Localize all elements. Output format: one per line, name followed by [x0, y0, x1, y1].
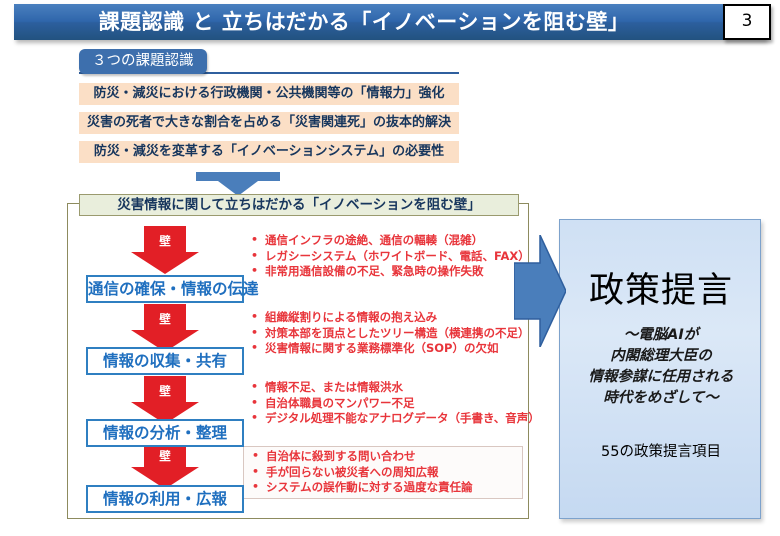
bullet-group-3: 情報不足、または情報洪水 自治体職員のマンパワー不足 デジタル処理不能なアナログ…: [243, 378, 523, 429]
policy-proposal-panel: 政策提言 ～電脳AIが 内閣総理大臣の 情報参謀に任用される 時代をめざして～ …: [559, 219, 761, 519]
list-item: システムの誤作動に対する過度な責任論: [250, 480, 520, 496]
arrow-right-icon: [514, 235, 566, 347]
arrow-down-red-icon: [131, 376, 199, 424]
arrow-down-icon: [196, 172, 280, 196]
policy-subtitle: ～電脳AIが 内閣総理大臣の 情報参謀に任用される 時代をめざして～: [560, 325, 762, 409]
list-item: 自治体職員のマンパワー不足: [249, 396, 521, 412]
policy-subtitle-line-3: 情報参謀に任用される: [560, 367, 762, 388]
arrow-down-red-icon: [131, 441, 199, 489]
page-number-badge: 3: [723, 4, 771, 40]
policy-subtitle-line-1: ～電脳AIが: [560, 325, 762, 346]
list-item: 災害情報に関する業務標準化（SOP）の欠如: [249, 341, 521, 357]
list-item: デジタル処理不能なアナログデータ（手書き、音声）: [249, 411, 521, 427]
challenge-item-3: 防災・減災を変革する「イノベーションシステム」の必要性: [79, 141, 459, 163]
list-item: レガシーシステム（ホワイトボード、電話、FAX）: [249, 249, 521, 265]
bullet-group-1: 通信インフラの途絶、通信の輻輳（混雑） レガシーシステム（ホワイトボード、電話、…: [243, 231, 523, 282]
policy-count: 55の政策提言項目: [560, 440, 762, 461]
wall-arrow-4: 壁: [131, 441, 199, 489]
barriers-panel-header: 災害情報に関して立ちはだかる「イノベーションを阻む壁」: [79, 194, 519, 216]
bullet-group-2: 組織縦割りによる情報の抱え込み 対策本部を頂点としたツリー構造（横連携の不足） …: [243, 308, 523, 359]
arrow-down-red-icon: [131, 304, 199, 352]
list-item: 情報不足、または情報洪水: [249, 380, 521, 396]
slide-title-bar: 課題認識 と 立ちはだかる「イノベーションを阻む壁」: [14, 4, 766, 40]
stage-box-collection: 情報の収集・共有: [86, 347, 244, 375]
policy-subtitle-line-2: 内閣総理大臣の: [560, 346, 762, 367]
challenges-tab-label: ３つの課題認識: [79, 49, 207, 74]
policy-subtitle-line-4: 時代をめざして～: [560, 388, 762, 409]
list-item: 通信インフラの途絶、通信の輻輳（混雑）: [249, 233, 521, 249]
list-item: 非常用通信設備の不足、緊急時の操作失敗: [249, 264, 521, 280]
stage-box-communication: 通信の確保・情報の伝達: [86, 275, 244, 303]
policy-title: 政策提言: [560, 262, 762, 313]
stage-box-analysis: 情報の分析・整理: [86, 419, 244, 447]
list-item: 手が回らない被災者への周知広報: [250, 465, 520, 481]
list-item: 自治体に殺到する問い合わせ: [250, 449, 520, 465]
challenge-item-1: 防災・減災における行政機関・公共機関等の「情報力」強化: [79, 83, 459, 105]
stage-box-utilization: 情報の利用・広報: [86, 485, 244, 513]
wall-arrow-2: 壁: [131, 304, 199, 352]
challenge-item-2: 災害の死者で大きな割合を占める「災害関連死」の抜本的解決: [79, 112, 459, 134]
list-item: 組織縦割りによる情報の抱え込み: [249, 310, 521, 326]
arrow-down-red-icon: [131, 226, 199, 274]
list-item: 対策本部を頂点としたツリー構造（横連携の不足）: [249, 326, 521, 342]
wall-arrow-3: 壁: [131, 376, 199, 424]
wall-arrow-1: 壁: [131, 226, 199, 274]
slide-canvas: 課題認識 と 立ちはだかる「イノベーションを阻む壁」 3 ３つの課題認識 防災・…: [0, 0, 780, 536]
bullet-group-4: 自治体に殺到する問い合わせ 手が回らない被災者への周知広報 システムの誤作動に対…: [243, 446, 523, 499]
page-title: 課題認識 と 立ちはだかる「イノベーションを阻む壁」: [14, 4, 714, 40]
